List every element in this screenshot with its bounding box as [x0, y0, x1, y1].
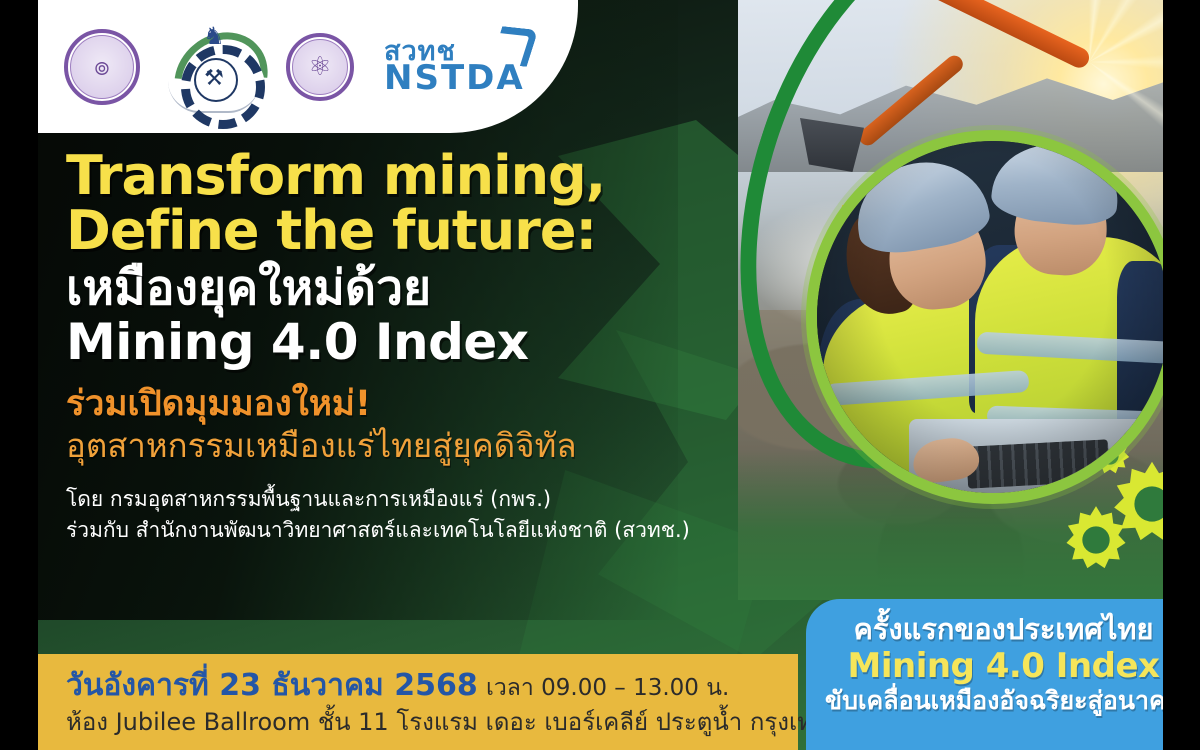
- title-english-line-1: Transform mining,: [66, 148, 786, 203]
- event-date-bar: วันอังคารที่ 23 ธันวาคม 2568 เวลา 09.00 …: [38, 654, 798, 750]
- subtitle-description: อุตสาหกรรมเหมืองแร่ไทยสู่ยุคดิจิทัล: [66, 426, 786, 466]
- callout-line-2: Mining 4.0 Index: [806, 647, 1163, 685]
- organizer-line-1: โดย กรมอุตสาหกรรมพื้นฐานและการเหมืองแร่ …: [66, 484, 786, 514]
- subtitle-highlight: ร่วมเปิดมุมมองใหม่!: [66, 383, 786, 425]
- gear-icon: [1060, 504, 1132, 576]
- atom-icon: ⚛: [308, 54, 331, 80]
- date-time-line: วันอังคารที่ 23 ธันวาคม 2568 เวลา 09.00 …: [66, 667, 798, 705]
- poster-stage: ๏ ⚒ ♞ ⚛ สวทช NSTDA: [38, 0, 1163, 750]
- nstda-swoosh-icon: [490, 26, 538, 67]
- event-venue: ห้อง Jubilee Ballroom ชั้น 11 โรงแรม เดอ…: [66, 707, 798, 738]
- event-date: วันอังคารที่ 23 ธันวาคม 2568: [66, 668, 478, 703]
- letterbox-right: [1163, 0, 1200, 750]
- nstda-logo: สวทช NSTDA: [384, 38, 525, 95]
- ministry-of-industry-seal: ๏: [64, 29, 140, 105]
- first-in-thailand-callout: ครั้งแรกของประเทศไทย Mining 4.0 Index ขั…: [806, 599, 1163, 750]
- title-english-line-2: Define the future:: [66, 203, 786, 258]
- dpim-seal: ⚒ ♞: [168, 21, 260, 113]
- letterbox-left: [0, 0, 38, 750]
- mining-engineers-photo: [806, 130, 1163, 504]
- atom-seal: ⚛: [286, 33, 354, 101]
- callout-line-3: ขับเคลื่อนเหมืองอัจฉริยะสู่อนาคต: [806, 686, 1163, 716]
- event-poster: ๏ ⚒ ♞ ⚛ สวทช NSTDA: [0, 0, 1200, 750]
- nstda-english-label: NSTDA: [384, 61, 525, 95]
- seal-emblem-glyph: ๏: [94, 54, 110, 80]
- callout-line-1: ครั้งแรกของประเทศไทย: [806, 612, 1163, 646]
- event-time: เวลา 09.00 – 13.00 น.: [486, 675, 729, 701]
- title-mining-index: Mining 4.0 Index: [66, 316, 786, 369]
- organizer-line-2: ร่วมกับ สำนักงานพัฒนาวิทยาศาสตร์และเทคโน…: [66, 515, 786, 545]
- deity-figure-icon: ♞: [200, 19, 228, 53]
- logo-header-panel: ๏ ⚒ ♞ ⚛ สวทช NSTDA: [38, 0, 578, 133]
- inset-vignette: [817, 141, 1163, 493]
- main-text-column: Transform mining, Define the future: เหม…: [66, 148, 786, 545]
- title-thai: เหมืองยุคใหม่ด้วย: [66, 262, 786, 316]
